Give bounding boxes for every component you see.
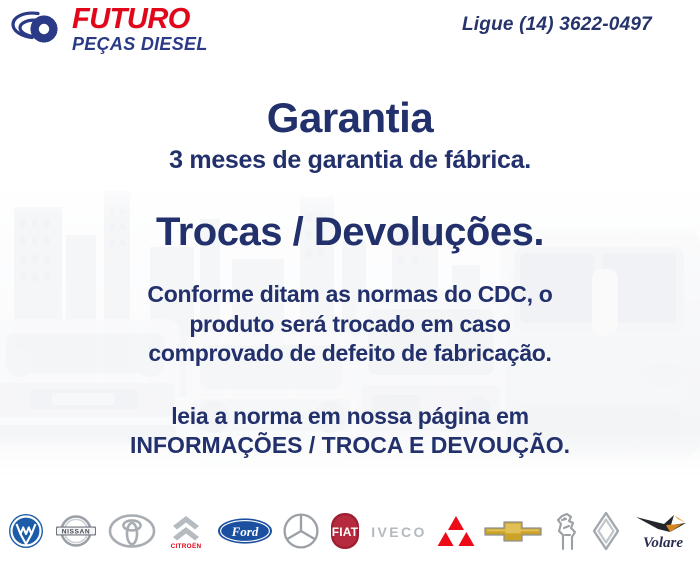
promo-page: FUTURO PEÇAS DIESEL Ligue (14) 3622-0497: [0, 0, 700, 586]
warranty-subtitle: 3 meses de garantia de fábrica.: [0, 148, 700, 173]
returns-tail-line-1: leia a norma em nossa página em: [0, 402, 700, 431]
returns-body-line-3: comprovado de defeito de fabricação.: [0, 339, 700, 369]
company-logo[interactable]: FUTURO PEÇAS DIESEL: [8, 5, 208, 53]
brand-logo-ford[interactable]: Ford: [217, 509, 273, 553]
brand-logo-strip: NISSAN CITROËN Ford: [0, 478, 700, 586]
renault-logo: [592, 511, 620, 551]
company-logo-wordmark: FUTURO PEÇAS DIESEL: [72, 5, 208, 53]
toyota-logo: [108, 514, 156, 548]
brand-logo-mercedes-benz[interactable]: [283, 509, 319, 553]
brand-logo-renault[interactable]: [592, 509, 620, 553]
logo-name-secondary: PEÇAS DIESEL: [72, 35, 208, 53]
page-header: FUTURO PEÇAS DIESEL Ligue (14) 3622-0497: [0, 0, 700, 58]
logo-name-primary: FUTURO: [72, 5, 208, 34]
brand-logo-nissan[interactable]: NISSAN: [54, 509, 98, 553]
svg-text:Ford: Ford: [231, 524, 259, 539]
returns-body-line-2: produto será trocado em caso: [0, 310, 700, 340]
brand-logo-toyota[interactable]: [108, 509, 156, 553]
volare-logo: Volare: [630, 511, 692, 551]
brand-logo-volare[interactable]: Volare: [630, 509, 692, 553]
mercedes-benz-logo: [283, 513, 319, 549]
svg-text:Volare: Volare: [643, 535, 683, 551]
svg-text:FIAT: FIAT: [332, 525, 359, 539]
brand-logo-peugeot[interactable]: [552, 509, 582, 553]
brand-logo-volkswagen[interactable]: [8, 509, 44, 553]
phone-number[interactable]: Ligue (14) 3622-0497: [462, 14, 652, 36]
gear-orbit-icon: [8, 7, 70, 51]
brand-logo-citroen[interactable]: CITROËN: [165, 509, 207, 553]
iveco-logo: IVECO: [371, 520, 427, 542]
brand-logo-chevrolet[interactable]: [484, 509, 542, 553]
nissan-logo: NISSAN: [54, 514, 98, 548]
returns-body-line-1: Conforme ditam as normas do CDC, o: [0, 280, 700, 310]
brand-logo-iveco[interactable]: IVECO: [371, 509, 427, 553]
svg-text:CITROËN: CITROËN: [171, 542, 202, 550]
fiat-logo: FIAT: [329, 511, 361, 551]
svg-text:IVECO: IVECO: [371, 524, 427, 540]
chevrolet-logo: [484, 518, 542, 544]
svg-text:NISSAN: NISSAN: [62, 528, 91, 535]
brand-logo-fiat[interactable]: FIAT: [329, 509, 361, 553]
returns-tail-line-2: INFORMAÇÕES / TROCA E DEVOUÇÃO.: [0, 431, 700, 460]
returns-tail: leia a norma em nossa página em INFORMAÇ…: [0, 402, 700, 461]
promo-content: Garantia 3 meses de garantia de fábrica.…: [0, 0, 700, 478]
volkswagen-logo: [8, 513, 44, 549]
peugeot-logo: [552, 511, 582, 551]
ford-logo: Ford: [217, 517, 273, 545]
citroen-logo: CITROËN: [165, 512, 207, 550]
mitsubishi-logo: [437, 513, 475, 549]
returns-title: Trocas / Devoluções.: [0, 212, 700, 252]
brand-logo-mitsubishi[interactable]: [437, 509, 475, 553]
warranty-title: Garantia: [0, 97, 700, 139]
returns-body: Conforme ditam as normas do CDC, o produ…: [0, 280, 700, 369]
